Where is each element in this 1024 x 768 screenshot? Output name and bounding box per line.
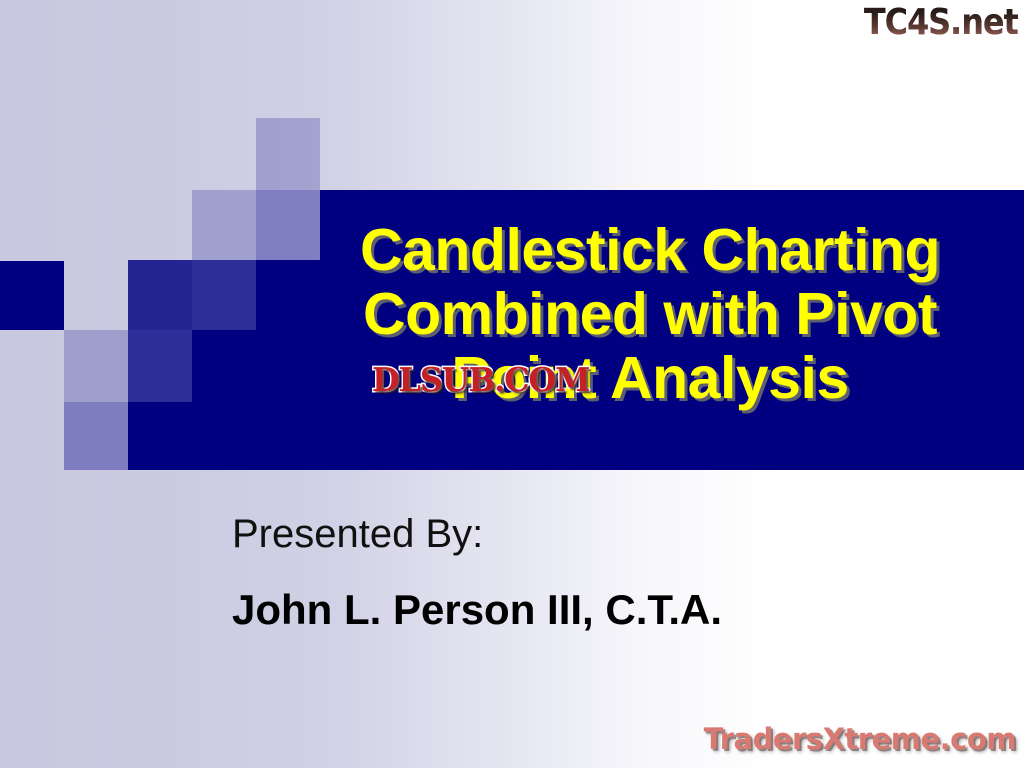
square-light-r3-c2-overlay [128, 260, 192, 330]
presented-by-label: Presented By: [232, 505, 952, 563]
square-navy-left [0, 261, 64, 330]
square-light-r4-c1-overlay [64, 330, 128, 402]
title-line-2: Combined with Pivot [300, 282, 1000, 346]
presentation-slide: Candlestick Charting Combined with Pivot… [0, 0, 1024, 768]
slide-subtitle: Presented By: John L. Person III, C.T.A. [232, 505, 952, 641]
square-light-r2-c3-overlay [192, 190, 256, 260]
square-mid-r3-c3-overlay [192, 260, 256, 330]
title-line-1: Candlestick Charting [300, 218, 1000, 282]
watermark-tradersxtreme: TradersXtreme.com [704, 722, 1016, 756]
square-mid-r4-c2-overlay [128, 330, 192, 402]
watermark-tc4s: TC4S.net [864, 2, 1018, 43]
watermark-dlsub: DLSUB.COM [372, 360, 589, 399]
presenter-name: John L. Person III, C.T.A. [232, 579, 952, 641]
square-mid-r5-c1-overlay [64, 402, 128, 470]
square-light-r1-c4-overlay [256, 118, 320, 190]
